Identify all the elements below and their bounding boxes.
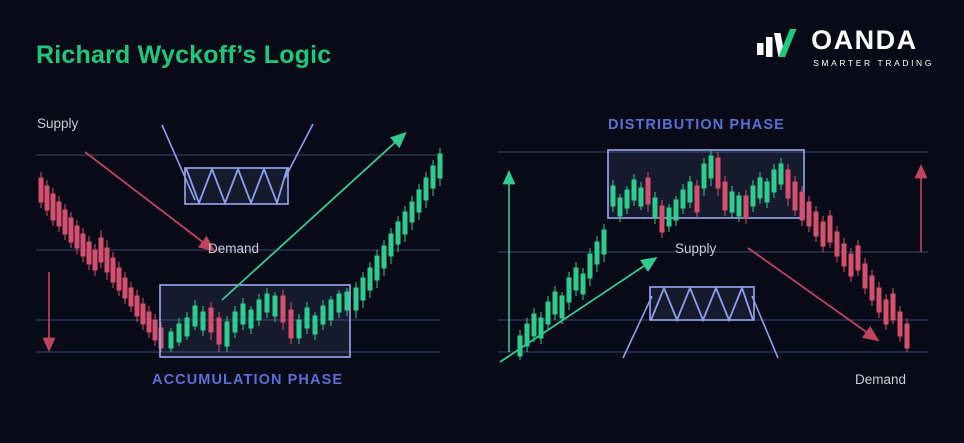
breakout-arrow-left — [222, 138, 400, 300]
left-zigzag-leader-1 — [162, 125, 195, 200]
demand-label-left: Demand — [208, 241, 259, 256]
distribution-phase-label: DISTRIBUTION PHASE — [608, 117, 785, 133]
left-downtrend-candles — [39, 172, 163, 352]
right-markdown-candles — [807, 196, 909, 352]
right-zigzag-leader-1 — [623, 296, 652, 358]
right-uptrend-candles — [518, 224, 606, 360]
supply-label-right: Supply — [675, 241, 716, 256]
left-zigzag-leader-2 — [285, 124, 313, 178]
accumulation-phase-label: ACCUMULATION PHASE — [152, 372, 343, 388]
diagram-canvas — [0, 0, 964, 443]
demand-label-right: Demand — [855, 372, 906, 387]
left-markup-candles — [354, 148, 442, 318]
supply-label-left: Supply — [37, 116, 78, 131]
right-zigzag-leader-2 — [752, 296, 778, 358]
wyckoff-infographic: Richard Wyckoff’s Logic OANDA SMARTER TR… — [0, 0, 964, 443]
